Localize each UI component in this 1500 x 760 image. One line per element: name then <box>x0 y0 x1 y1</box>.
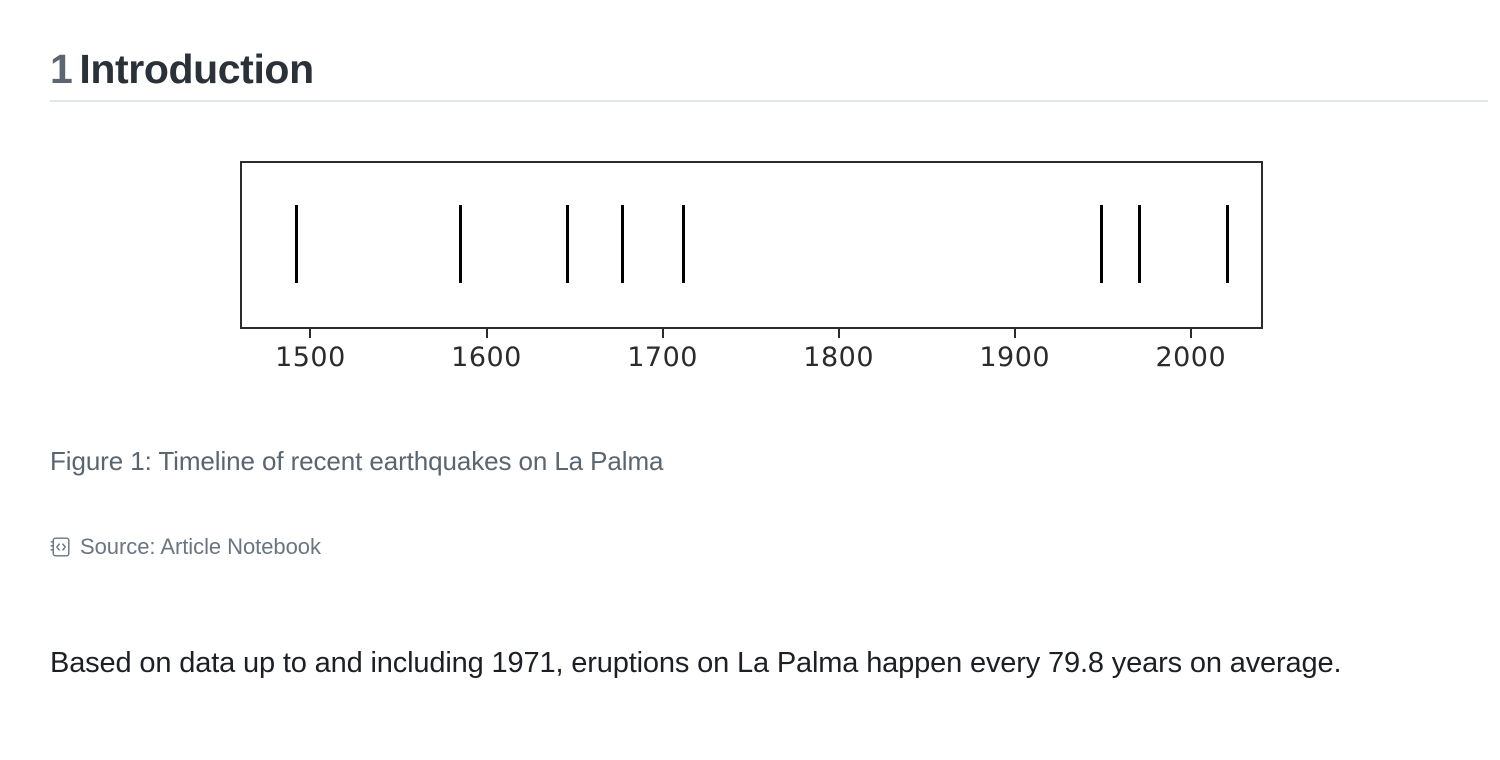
rug-plot: 150016001700180019002000 <box>232 120 1272 390</box>
source-line: Source: Article Notebook <box>49 534 321 560</box>
axis-ticklabel: 1600 <box>451 342 522 373</box>
page-title: 1Introduction <box>50 45 314 93</box>
axis-tick <box>1014 329 1016 338</box>
rug-mark <box>682 205 685 283</box>
section-number: 1 <box>50 46 72 92</box>
heading-divider <box>50 100 1488 102</box>
axis-ticklabel: 1500 <box>275 342 346 373</box>
axis-tick <box>838 329 840 338</box>
axis-ticklabels-layer: 150016001700180019002000 <box>240 342 1263 382</box>
rug-marks-layer <box>240 161 1263 329</box>
rug-mark <box>566 205 569 283</box>
article-page: 1Introduction 150016001700180019002000 F… <box>0 0 1500 760</box>
axis-ticklabel: 2000 <box>1155 342 1226 373</box>
source-label: Source: Article Notebook <box>80 534 321 560</box>
rug-mark <box>295 205 298 283</box>
rug-mark <box>459 205 462 283</box>
rug-mark <box>621 205 624 283</box>
figure-block: 150016001700180019002000 <box>0 120 1500 390</box>
axis-ticks-layer <box>240 329 1263 339</box>
axis-ticklabel: 1900 <box>979 342 1050 373</box>
journal-code-icon <box>49 536 71 558</box>
axis-tick <box>1190 329 1192 338</box>
rug-mark <box>1226 205 1229 283</box>
rug-mark <box>1100 205 1103 283</box>
rug-mark <box>1138 205 1141 283</box>
body-paragraph: Based on data up to and including 1971, … <box>50 635 1430 691</box>
figure-caption: Figure 1: Timeline of recent earthquakes… <box>50 446 663 477</box>
axis-ticklabel: 1700 <box>627 342 698 373</box>
section-title-text: Introduction <box>79 46 313 92</box>
axis-ticklabel: 1800 <box>803 342 874 373</box>
axis-tick <box>309 329 311 338</box>
axis-tick <box>486 329 488 338</box>
axis-tick <box>662 329 664 338</box>
